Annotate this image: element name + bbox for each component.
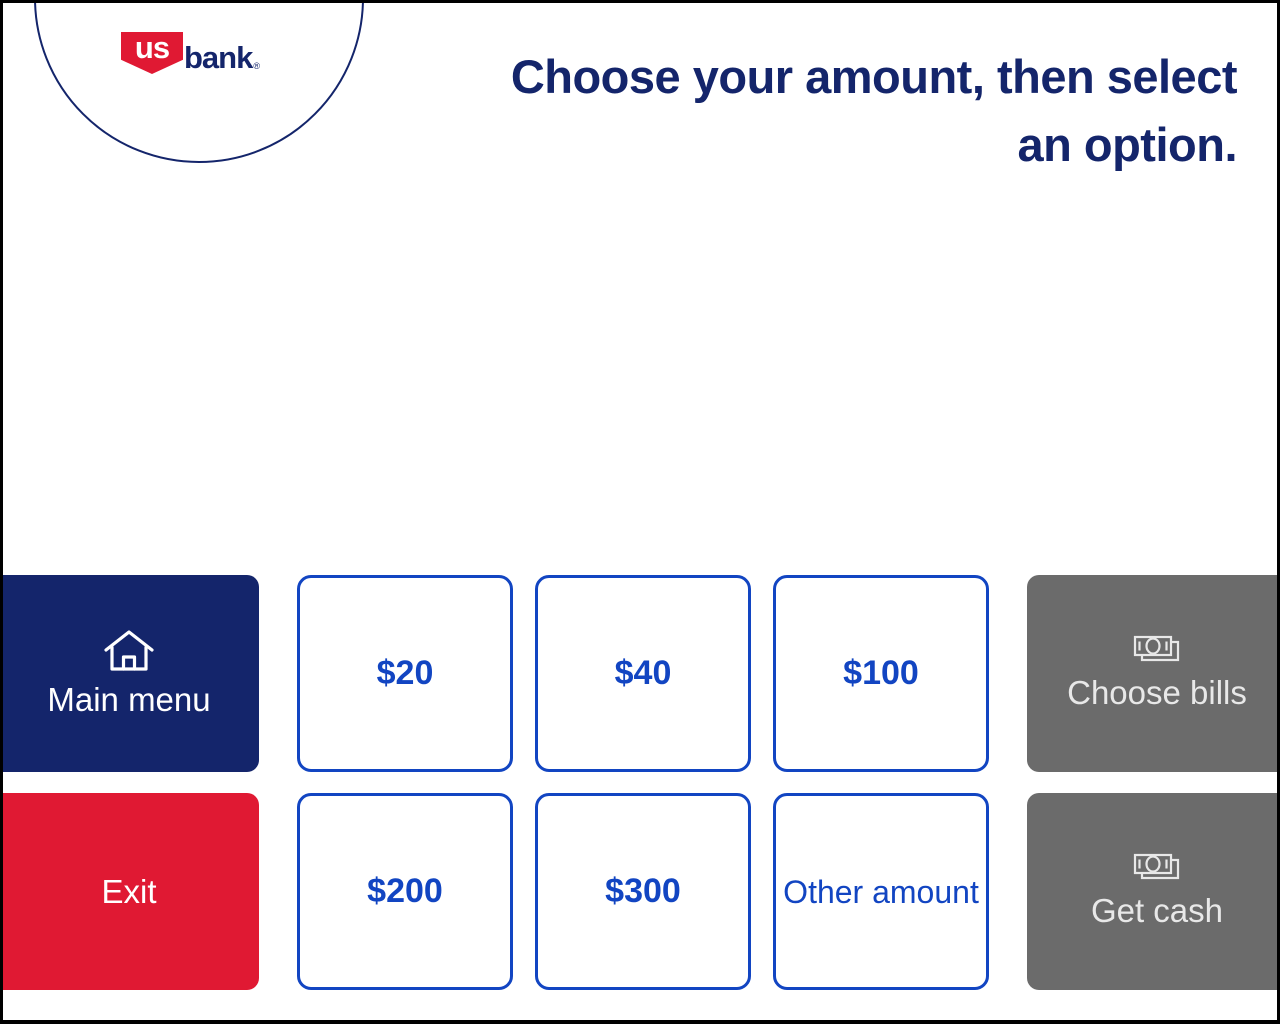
amount-button-20[interactable]: $20	[297, 575, 513, 772]
home-icon	[103, 628, 155, 679]
amount-button-300[interactable]: $300	[535, 793, 751, 990]
choose-bills-button[interactable]: Choose bills	[1027, 575, 1280, 772]
brand-arc-decoration	[34, 0, 364, 163]
cash-icon	[1133, 853, 1181, 890]
cash-icon	[1133, 635, 1181, 672]
amount-label: $200	[367, 871, 443, 912]
exit-label: Exit	[101, 873, 156, 911]
amount-label: $300	[605, 871, 681, 912]
atm-screen: us bank ® Choose your amount, then selec…	[0, 0, 1280, 1024]
other-amount-button[interactable]: Other amount	[773, 793, 989, 990]
exit-button[interactable]: Exit	[0, 793, 259, 990]
amount-label: Other amount	[783, 871, 979, 913]
button-row-bottom: Exit $200 $300 Other amount Get cash	[3, 793, 1280, 990]
amount-button-200[interactable]: $200	[297, 793, 513, 990]
button-row-top: Main menu $20 $40 $100 Choose bills	[3, 575, 1280, 772]
amount-button-40[interactable]: $40	[535, 575, 751, 772]
logo-registered-mark: ®	[253, 62, 260, 71]
us-bank-logo: us bank ®	[121, 34, 260, 74]
main-menu-label: Main menu	[47, 681, 210, 719]
logo-shield-icon: us	[121, 32, 183, 74]
amount-label: $100	[843, 653, 919, 694]
amount-button-100[interactable]: $100	[773, 575, 989, 772]
amount-label: $40	[615, 653, 672, 694]
get-cash-button[interactable]: Get cash	[1027, 793, 1280, 990]
choose-bills-label: Choose bills	[1067, 674, 1247, 712]
get-cash-label: Get cash	[1091, 892, 1223, 930]
logo-shield-text: us	[135, 32, 169, 64]
logo-wordmark: bank	[184, 42, 252, 74]
main-menu-button[interactable]: Main menu	[0, 575, 259, 772]
amount-label: $20	[377, 653, 434, 694]
page-title: Choose your amount, then select an optio…	[477, 43, 1237, 179]
